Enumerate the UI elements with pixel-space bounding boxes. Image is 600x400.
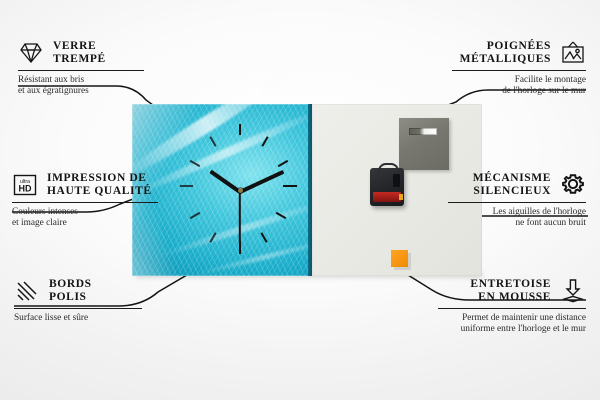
feature-verre-trempe: VERRE TREMPÉ Résistant aux bris et aux é…	[18, 40, 144, 97]
feature-description: Couleurs intenses et image claire	[12, 207, 158, 229]
clock-tick	[190, 160, 201, 167]
arrow-down-pad-icon	[560, 278, 586, 304]
clock-tick	[261, 136, 268, 147]
foam-spacer	[391, 250, 408, 267]
feature-bords-polis: BORDS POLIS Surface lisse et sûre	[14, 278, 142, 324]
feature-description: Surface lisse et sûre	[14, 313, 142, 324]
movement-slot	[393, 174, 400, 187]
clock-tick	[278, 160, 289, 167]
feature-description: Permet de maintenir une distance uniform…	[438, 313, 586, 335]
feature-poignees-metalliques: POIGNÉES MÉTALLIQUES Facilite le montage…	[452, 40, 586, 97]
metal-hanger-plate	[399, 118, 449, 170]
hanging-frame-icon	[560, 40, 586, 66]
clock-tick	[209, 136, 216, 147]
clock-tick	[260, 232, 267, 243]
title-rule	[452, 70, 586, 71]
battery	[373, 192, 401, 202]
title-rule	[12, 202, 158, 203]
clock-hour-hand	[209, 170, 241, 194]
gear-icon	[560, 172, 586, 198]
clock-tick	[239, 124, 241, 135]
feature-title: BORDS POLIS	[49, 278, 92, 304]
feature-title: ENTRETOISE EN MOUSSE	[470, 278, 551, 304]
clock-tick	[283, 185, 297, 187]
feature-description: Les aiguilles de l'horloge ne font aucun…	[448, 207, 586, 229]
title-rule	[448, 202, 586, 203]
feature-description: Résistant aux bris et aux égratignures	[18, 75, 144, 97]
clock-second-hand	[239, 192, 241, 244]
svg-text:HD: HD	[19, 184, 32, 194]
clock-tick	[180, 185, 193, 187]
feature-title: POIGNÉES MÉTALLIQUES	[460, 40, 551, 66]
clock-minute-hand	[239, 170, 284, 194]
polished-edges-icon	[14, 278, 40, 304]
clock-tick	[209, 232, 216, 243]
feature-mecanisme-silencieux: MÉCANISME SILENCIEUX Les aiguilles de l'…	[448, 172, 586, 229]
feature-title: VERRE TREMPÉ	[53, 40, 106, 66]
feature-entretoise-en-mousse: ENTRETOISE EN MOUSSE Permet de maintenir…	[438, 278, 586, 335]
clock-tick	[190, 212, 201, 219]
clock-center-pin	[238, 188, 243, 193]
feature-title: MÉCANISME SILENCIEUX	[473, 172, 551, 198]
ultra-hd-icon: ultra HD	[12, 172, 38, 198]
infographic-canvas: VERRE TREMPÉ Résistant aux bris et aux é…	[0, 0, 600, 400]
diamond-icon	[18, 40, 44, 66]
title-rule	[14, 308, 142, 309]
title-rule	[18, 70, 144, 71]
feature-title: IMPRESSION DE HAUTE QUALITÉ	[47, 172, 152, 198]
feature-description: Facilite le montage de l'horloge sur le …	[452, 75, 586, 97]
title-rule	[438, 308, 586, 309]
clock-tick	[276, 212, 287, 219]
feature-impression-haute-qualite: ultra HD IMPRESSION DE HAUTE QUALITÉ Cou…	[12, 172, 158, 229]
clock-movement	[370, 168, 404, 206]
clock-front-panel	[132, 104, 310, 276]
movement-hanger-loop	[378, 163, 399, 174]
